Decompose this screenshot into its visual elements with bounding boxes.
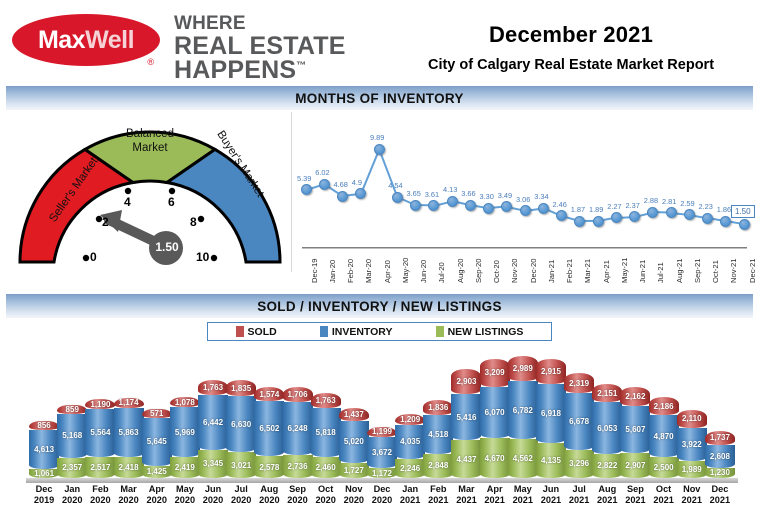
bar-segment-value: 1,061 — [34, 469, 54, 478]
gauge-tick-label-8: 8 — [190, 215, 197, 229]
line-chart-data-point[interactable] — [374, 144, 385, 155]
line-chart-value-label: 3.49 — [498, 191, 512, 200]
bar-segment-inv[interactable]: 6,070 — [480, 387, 510, 439]
market-report-page: MaxWell ® WHERE REAL ESTATE HAPPENS™ Dec… — [0, 0, 759, 510]
bar-segment-value: 6,070 — [485, 408, 505, 417]
line-chart-value-label: 1.86 — [717, 205, 731, 214]
legend-item-inventory[interactable]: INVENTORY — [320, 326, 393, 338]
bar-segment-newl[interactable]: 2,419 — [170, 457, 200, 478]
bar-column[interactable]: 2,1864,8702,500 — [649, 397, 679, 478]
bar-segment-value: 2,110 — [682, 414, 702, 423]
bar-segment-newl[interactable]: 2,822 — [592, 454, 622, 478]
page-subtitle: City of Calgary Real Estate Market Repor… — [395, 57, 747, 73]
line-chart-data-point[interactable] — [520, 205, 531, 216]
gauge-tick-dot-6 — [169, 188, 175, 194]
line-chart-value-label: 3.65 — [407, 189, 421, 198]
bar-segment-value: 2,319 — [569, 379, 589, 388]
bar-column[interactable]: 1,0785,9692,419 — [170, 397, 200, 478]
bar-segment-value: 6,502 — [259, 424, 279, 433]
bar-segment-newl[interactable]: 4,670 — [480, 438, 510, 478]
months-of-inventory-section: Seller's Market Balanced Market Buyer's … — [0, 110, 759, 285]
bar-segment-value: 4,562 — [513, 454, 533, 463]
bar-segment-newl[interactable]: 4,562 — [508, 439, 538, 478]
bar-segment-sold[interactable]: 2,915 — [536, 359, 566, 384]
line-chart-x-tick-label: May-21 — [620, 249, 629, 283]
bar-segment-sold[interactable]: 2,110 — [677, 410, 707, 428]
bar-segment-newl[interactable]: 2,736 — [283, 455, 313, 478]
gauge-value: 1.50 — [150, 240, 184, 254]
bar-chart-x-axis-labels: Dec2019Jan2020Feb2020Mar2020Apr2020May20… — [0, 484, 759, 510]
bar-segment-sold[interactable]: 1,437 — [339, 408, 369, 420]
line-chart-data-point[interactable] — [629, 211, 640, 222]
maxwell-logo: MaxWell ® WHERE REAL ESTATE HAPPENS™ — [12, 14, 346, 83]
bar-segment-newl[interactable]: 4,135 — [536, 443, 566, 478]
registered-mark-icon: ® — [147, 57, 154, 67]
line-chart-x-tick-label: Mar-21 — [583, 249, 592, 283]
line-chart-data-point[interactable] — [392, 192, 403, 203]
bar-segment-inv[interactable]: 5,564 — [85, 409, 115, 456]
sold-inventory-banner-label: SOLD / INVENTORY / NEW LISTINGS — [257, 299, 502, 314]
bar-segment-inv[interactable]: 4,870 — [649, 415, 679, 456]
bar-segment-newl[interactable]: 1,230 — [705, 468, 735, 478]
legend-item-sold[interactable]: SOLD — [236, 326, 277, 338]
bar-segment-sold[interactable]: 1,706 — [283, 387, 313, 402]
line-chart-x-tick-label: Aug-20 — [456, 249, 465, 283]
bar-segment-value: 2,186 — [654, 402, 674, 411]
bar-segment-value: 1,437 — [344, 410, 364, 419]
bar-segment-value: 6,678 — [569, 417, 589, 426]
bar-segment-sold[interactable]: 1,763 — [198, 380, 228, 395]
section-divider — [291, 112, 292, 272]
logo-ellipse: MaxWell ® — [12, 14, 160, 66]
bar-segment-value: 3,021 — [231, 461, 251, 470]
line-chart-value-label: 4.13 — [443, 185, 457, 194]
tagline-line-3: HAPPENS™ — [174, 58, 346, 83]
line-chart-data-point[interactable] — [410, 200, 421, 211]
line-chart-data-point[interactable] — [428, 200, 439, 211]
bar-segment-inv[interactable]: 5,607 — [620, 406, 650, 454]
bar-segment-value: 1,835 — [231, 384, 251, 393]
line-chart-data-point[interactable] — [501, 201, 512, 212]
gauge-tick-label-0: 0 — [90, 250, 97, 264]
bar-segment-value: 4,135 — [541, 456, 561, 465]
bar-segment-newl[interactable]: 2,418 — [114, 457, 144, 478]
bar-segment-value: 5,607 — [625, 425, 645, 434]
line-chart-data-point[interactable] — [611, 212, 622, 223]
bar-column[interactable]: 2,1103,9221,989 — [677, 410, 707, 478]
bar-x-tick-year: 2021 — [700, 495, 740, 506]
bar-segment-value: 2,246 — [400, 464, 420, 473]
bar-segment-newl[interactable]: 3,345 — [198, 450, 228, 478]
bar-column[interactable]: 2,1516,0532,822 — [592, 384, 622, 478]
line-chart-data-point[interactable] — [319, 179, 330, 190]
bar-segment-newl[interactable]: 1,989 — [677, 461, 707, 478]
bar-segment-value: 6,248 — [288, 424, 308, 433]
bar-segment-value: 3,209 — [485, 368, 505, 377]
line-chart-value-label: 2.27 — [607, 202, 621, 211]
bar-segment-sold[interactable]: 1,199 — [367, 427, 397, 437]
logo-text-max: Max — [38, 26, 85, 54]
bar-column[interactable]: 2,9035,4164,437 — [451, 369, 481, 478]
line-chart-data-point[interactable] — [556, 210, 567, 221]
line-chart-value-label: 1.89 — [589, 205, 603, 214]
line-chart-x-tick-label: Sep-20 — [474, 249, 483, 283]
bar-segment-sold[interactable]: 1,836 — [423, 400, 453, 416]
bar-column[interactable]: 1,8364,5182,848 — [423, 400, 453, 478]
line-chart-data-point[interactable] — [647, 207, 658, 218]
bar-segment-value: 2,460 — [316, 463, 336, 472]
bar-segment-sold[interactable]: 2,319 — [564, 373, 594, 393]
line-chart-value-label: 3.34 — [534, 192, 548, 201]
bar-segment-sold[interactable]: 2,903 — [451, 369, 481, 394]
gauge-tick-label-2: 2 — [102, 215, 109, 229]
report-title-block: December 2021 City of Calgary Real Estat… — [395, 22, 747, 73]
bar-segment-newl[interactable]: 1,727 — [339, 463, 369, 478]
line-chart-data-point[interactable] — [465, 200, 476, 211]
bar-segment-newl[interactable]: 2,517 — [85, 457, 115, 478]
report-header: MaxWell ® WHERE REAL ESTATE HAPPENS™ Dec… — [0, 0, 759, 84]
bar-segment-sold[interactable]: 1,209 — [395, 414, 425, 424]
legend-swatch-icon — [436, 326, 444, 337]
bar-segment-value: 5,168 — [62, 431, 82, 440]
gauge-label-balanced-line1: Balanced — [109, 127, 191, 141]
bar-segment-value: 2,822 — [597, 461, 617, 470]
line-chart-x-tick-label: Feb-20 — [346, 249, 355, 283]
line-chart-x-tick-label: Mar-20 — [364, 249, 373, 283]
bar-segment-inv[interactable]: 2,608 — [705, 445, 735, 467]
bar-segment-inv[interactable]: 5,416 — [451, 394, 481, 440]
bar-segment-value: 1,763 — [316, 396, 336, 405]
line-chart-value-label: 2.23 — [699, 202, 713, 211]
line-chart-x-tick-label: Jan-21 — [547, 249, 556, 283]
line-chart-data-point[interactable] — [574, 216, 585, 227]
gauge-tick-dot-10 — [211, 255, 217, 261]
bar-segment-value: 5,818 — [316, 428, 336, 437]
line-chart-data-point[interactable] — [483, 203, 494, 214]
bar-segment-newl[interactable]: 4,437 — [451, 440, 481, 478]
bar-segment-value: 6,782 — [513, 406, 533, 415]
bar-segment-value: 3,296 — [569, 459, 589, 468]
line-chart-value-label: 3.66 — [461, 189, 475, 198]
bar-column[interactable]: 1,7066,2482,736 — [283, 387, 313, 478]
line-chart-x-tick-label: Jul-20 — [437, 249, 446, 283]
bar-segment-value: 2,907 — [625, 461, 645, 470]
bar-segment-newl[interactable]: 3,296 — [564, 450, 594, 478]
bar-segment-newl[interactable]: 2,357 — [57, 458, 87, 478]
line-chart-data-point[interactable] — [739, 219, 750, 230]
bar-column[interactable]: 2,9156,9184,135 — [536, 359, 566, 478]
bar-segment-sold[interactable]: 3,209 — [480, 359, 510, 386]
bar-segment-value: 6,053 — [597, 424, 617, 433]
bar-column[interactable]: 1,1905,5642,517 — [85, 399, 115, 478]
line-chart-x-tick-label: Nov-20 — [510, 249, 519, 283]
bar-segment-inv[interactable]: 6,630 — [226, 396, 256, 452]
bar-column[interactable]: 8564,6131,061 — [29, 421, 59, 478]
bar-segment-value: 4,518 — [428, 430, 448, 439]
line-chart-value-label: 2.37 — [626, 201, 640, 210]
bar-segment-value: 1,230 — [710, 468, 730, 477]
line-chart-value-label: 3.61 — [425, 190, 439, 199]
bar-segment-value: 4,035 — [400, 437, 420, 446]
line-chart-x-tick-label: May-20 — [401, 249, 410, 283]
bar-segment-value: 2,419 — [175, 463, 195, 472]
line-chart-data-point[interactable] — [337, 191, 348, 202]
tagline-line-1: WHERE — [174, 15, 346, 34]
bar-segment-value: 1,199 — [372, 427, 392, 436]
bar-segment-value: 2,848 — [428, 461, 448, 470]
line-chart-segment — [360, 149, 380, 194]
bar-segment-inv[interactable]: 5,645 — [142, 418, 172, 466]
line-chart-value-label: 5.39 — [297, 174, 311, 183]
bar-segment-newl[interactable]: 2,578 — [254, 456, 284, 478]
bar-segment-inv[interactable]: 6,782 — [508, 381, 538, 439]
bar-segment-value: 1,172 — [372, 469, 392, 478]
bar-segment-value: 5,863 — [119, 428, 139, 437]
months-of-inventory-banner-label: MONTHS OF INVENTORY — [295, 91, 463, 106]
bar-column[interactable]: 1,4375,0201,727 — [339, 408, 369, 478]
line-chart-value-label: 3.06 — [516, 195, 530, 204]
bar-segment-value: 2,608 — [710, 452, 730, 461]
bar-chart-baseline — [26, 478, 738, 483]
bar-segment-sold[interactable]: 859 — [57, 405, 87, 414]
line-chart-x-tick-label: Dec-21 — [748, 249, 757, 283]
brand-tagline: WHERE REAL ESTATE HAPPENS™ — [174, 14, 346, 83]
gauge-label-balanced-line2: Market — [109, 141, 191, 155]
bar-segment-sold[interactable]: 856 — [29, 421, 59, 430]
bar-segment-sold[interactable]: 1,574 — [254, 387, 284, 400]
bar-column[interactable]: 1,7636,4423,345 — [198, 380, 228, 478]
bar-segment-value: 6,442 — [203, 418, 223, 427]
bar-segment-inv[interactable]: 3,922 — [677, 428, 707, 461]
line-chart-x-tick-label: Apr-21 — [602, 249, 611, 283]
bar-segment-inv[interactable]: 6,918 — [536, 384, 566, 443]
bar-x-tick-month: Dec — [700, 484, 740, 495]
bar-segment-inv[interactable]: 5,168 — [57, 414, 87, 458]
bar-segment-sold[interactable]: 1,078 — [170, 397, 200, 406]
bar-segment-newl[interactable]: 2,246 — [395, 459, 425, 478]
line-chart-value-label-current: 1.50 — [731, 205, 755, 218]
bar-column[interactable]: 1,8356,6303,021 — [226, 380, 256, 478]
sold-inventory-section: SOLDINVENTORYNEW LISTINGS 8564,6131,0618… — [0, 322, 759, 510]
bar-segment-sold[interactable]: 1,174 — [114, 398, 144, 408]
line-chart-value-label: 2.59 — [680, 199, 694, 208]
bar-segment-value: 1,836 — [428, 403, 448, 412]
bar-segment-inv[interactable]: 5,863 — [114, 408, 144, 458]
line-chart-data-point[interactable] — [666, 207, 677, 218]
bar-column[interactable]: 2,3196,6783,296 — [564, 373, 594, 478]
bar-segment-value: 2,903 — [456, 377, 476, 386]
gauge-tick-label-6: 6 — [168, 195, 175, 209]
bar-segment-inv[interactable]: 5,969 — [170, 407, 200, 458]
bar-segment-value: 5,416 — [456, 413, 476, 422]
bar-segment-value: 856 — [37, 421, 50, 430]
bar-segment-value: 5,969 — [175, 428, 195, 437]
bar-segment-value: 1,190 — [90, 400, 110, 409]
line-chart-value-label: 3.30 — [480, 192, 494, 201]
line-chart-data-point[interactable] — [684, 209, 695, 220]
bar-column[interactable]: 1,1993,6721,172 — [367, 427, 397, 478]
legend-item-new-listings[interactable]: NEW LISTINGS — [436, 326, 524, 338]
line-chart-x-axis-labels: Dec-19Jan-20Feb-20Mar-20Apr-20May-20Jun-… — [296, 251, 751, 285]
bar-segment-inv[interactable]: 4,518 — [423, 415, 453, 453]
bar-segment-inv[interactable]: 6,248 — [283, 402, 313, 455]
tagline-line-2: REAL ESTATE — [174, 34, 346, 59]
gauge-tick-label-10: 10 — [196, 250, 209, 264]
tagline-line-3-text: HAPPENS — [174, 56, 296, 84]
legend-label: INVENTORY — [332, 326, 393, 338]
bar-segment-value: 2,418 — [119, 463, 139, 472]
line-chart-value-label: 2.88 — [644, 196, 658, 205]
sold-inventory-banner: SOLD / INVENTORY / NEW LISTINGS — [6, 294, 753, 318]
bar-column[interactable]: 3,2096,0704,670 — [480, 359, 510, 478]
line-chart-x-tick-label: Oct-21 — [711, 249, 720, 283]
line-chart-x-tick-label: Jun-20 — [419, 249, 428, 283]
legend-swatch-icon — [320, 326, 328, 337]
bar-segment-sold[interactable]: 2,989 — [508, 356, 538, 381]
bar-segment-inv[interactable]: 4,035 — [395, 425, 425, 459]
bar-segment-value: 2,162 — [625, 392, 645, 401]
chart-legend: SOLDINVENTORYNEW LISTINGS — [207, 322, 552, 341]
legend-swatch-icon — [236, 326, 244, 337]
bar-x-tick-label: Dec2021 — [700, 484, 740, 505]
page-title: December 2021 — [395, 22, 747, 48]
bar-segment-inv[interactable]: 6,502 — [254, 401, 284, 456]
bar-segment-value: 1,706 — [288, 390, 308, 399]
bar-column[interactable]: 1,7635,8182,460 — [311, 393, 341, 478]
line-chart-plot-area: 5.396.024.684.99.894.543.653.614.133.663… — [296, 110, 751, 247]
line-chart-x-tick-label: Feb-21 — [565, 249, 574, 283]
bar-segment-value: 2,578 — [259, 463, 279, 472]
bar-segment-sold[interactable]: 2,186 — [649, 397, 679, 416]
line-chart-x-tick-label: Jan-20 — [328, 249, 337, 283]
bar-segment-newl[interactable]: 1,061 — [29, 469, 59, 478]
stacked-bar-chart: 8564,6131,0618595,1682,3571,1905,5642,51… — [0, 350, 759, 478]
bar-segment-value: 4,437 — [456, 455, 476, 464]
line-chart-data-point[interactable] — [593, 216, 604, 227]
bar-segment-newl[interactable]: 2,500 — [649, 457, 679, 478]
bar-segment-value: 4,613 — [34, 445, 54, 454]
line-chart-data-point[interactable] — [720, 216, 731, 227]
line-chart-x-tick-label: Dec-19 — [310, 249, 319, 283]
trademark-mark-icon: ™ — [296, 61, 306, 72]
bar-segment-value: 1,209 — [400, 415, 420, 424]
bar-segment-value: 4,670 — [485, 454, 505, 463]
line-chart-data-point[interactable] — [447, 196, 458, 207]
line-chart-value-label: 4.9 — [352, 178, 362, 187]
bar-segment-value: 2,736 — [288, 462, 308, 471]
bar-segment-value: 5,645 — [147, 437, 167, 446]
line-chart-value-label: 2.81 — [662, 197, 676, 206]
bar-segment-value: 6,630 — [231, 420, 251, 429]
bar-column[interactable]: 1,2094,0352,246 — [395, 414, 425, 478]
line-chart-x-tick-label: Dec-20 — [529, 249, 538, 283]
bar-segment-value: 2,500 — [654, 463, 674, 472]
bar-segment-inv[interactable]: 6,678 — [564, 393, 594, 450]
bar-segment-newl[interactable]: 1,172 — [367, 468, 397, 478]
bar-segment-inv[interactable]: 3,672 — [367, 437, 397, 468]
gauge-tick-dot-4 — [125, 188, 131, 194]
bar-segment-newl[interactable]: 3,021 — [226, 452, 256, 478]
bar-segment-value: 571 — [150, 409, 163, 418]
bar-segment-sold[interactable]: 1,737 — [705, 431, 735, 446]
bar-segment-value: 2,989 — [513, 364, 533, 373]
bar-segment-value: 1,727 — [344, 466, 364, 475]
line-chart-data-point[interactable] — [355, 188, 366, 199]
bar-segment-sold[interactable]: 571 — [142, 409, 172, 418]
line-chart-segment — [378, 149, 398, 198]
bar-segment-value: 1,174 — [119, 398, 139, 407]
bar-segment-sold[interactable]: 2,162 — [620, 387, 650, 405]
bar-segment-inv[interactable]: 4,613 — [29, 430, 59, 469]
bar-column[interactable]: 1,1745,8632,418 — [114, 398, 144, 478]
bar-segment-value: 6,918 — [541, 409, 561, 418]
bar-segment-value: 1,763 — [203, 383, 223, 392]
market-gauge: Seller's Market Balanced Market Buyer's … — [14, 110, 286, 278]
bar-segment-newl[interactable]: 2,460 — [311, 457, 341, 478]
line-chart-value-label: 4.54 — [388, 181, 402, 190]
gauge-tick-label-4: 4 — [124, 195, 131, 209]
bar-segment-sold[interactable]: 2,151 — [592, 384, 622, 402]
bar-segment-inv[interactable]: 5,020 — [339, 421, 369, 464]
bar-column[interactable]: 5715,6451,425 — [142, 409, 172, 478]
bar-column[interactable]: 2,1625,6072,907 — [620, 387, 650, 478]
line-chart-x-tick-label: Oct-20 — [492, 249, 501, 283]
gauge-tick-dot-8 — [198, 216, 204, 222]
bar-segment-value: 4,870 — [654, 432, 674, 441]
line-chart-data-point[interactable] — [702, 213, 713, 224]
bar-segment-value: 3,922 — [682, 440, 702, 449]
legend-label: NEW LISTINGS — [448, 326, 524, 338]
bar-segment-value: 1,078 — [175, 398, 195, 407]
bar-segment-sold[interactable]: 1,763 — [311, 393, 341, 408]
bar-segment-value: 859 — [66, 405, 79, 414]
bar-segment-value: 1,737 — [710, 433, 730, 442]
bar-column[interactable]: 2,9896,7824,562 — [508, 356, 538, 478]
line-chart-value-label: 4.68 — [334, 180, 348, 189]
bar-segment-value: 2,517 — [90, 463, 110, 472]
logo-wordmark: MaxWell — [38, 26, 134, 55]
line-chart-data-point[interactable] — [538, 203, 549, 214]
gauge-label-balanced: Balanced Market — [109, 127, 191, 156]
bar-column[interactable]: 1,7372,6081,230 — [705, 431, 735, 478]
line-chart-data-point[interactable] — [301, 184, 312, 195]
bar-segment-newl[interactable]: 2,848 — [423, 454, 453, 478]
line-chart-x-tick-label: Nov-21 — [729, 249, 738, 283]
bar-column[interactable]: 8595,1682,357 — [57, 405, 87, 478]
line-chart-value-label: 9.89 — [370, 133, 384, 142]
gauge-tick-dot-0 — [83, 255, 89, 261]
bar-segment-inv[interactable]: 6,442 — [198, 395, 228, 450]
bar-segment-value: 5,564 — [90, 428, 110, 437]
bar-segment-value: 1,425 — [147, 467, 167, 476]
bar-segment-value: 2,357 — [62, 463, 82, 472]
bar-segment-inv[interactable]: 5,818 — [311, 408, 341, 458]
bar-segment-value: 2,151 — [597, 389, 617, 398]
bar-segment-value: 2,915 — [541, 367, 561, 376]
bar-segment-sold[interactable]: 1,190 — [85, 399, 115, 409]
bar-segment-newl[interactable]: 1,425 — [142, 466, 172, 478]
line-chart-value-label: 1.87 — [571, 205, 585, 214]
logo-text-well: Well — [85, 26, 134, 54]
line-chart-value-label: 2.46 — [553, 200, 567, 209]
bar-segment-value: 3,672 — [372, 448, 392, 457]
bar-segment-value: 1,989 — [682, 465, 702, 474]
bar-segment-newl[interactable]: 2,907 — [620, 453, 650, 478]
bar-segment-inv[interactable]: 6,053 — [592, 402, 622, 454]
bar-column[interactable]: 1,5746,5022,578 — [254, 387, 284, 478]
bar-segment-sold[interactable]: 1,835 — [226, 380, 256, 396]
legend-label: SOLD — [248, 326, 277, 338]
